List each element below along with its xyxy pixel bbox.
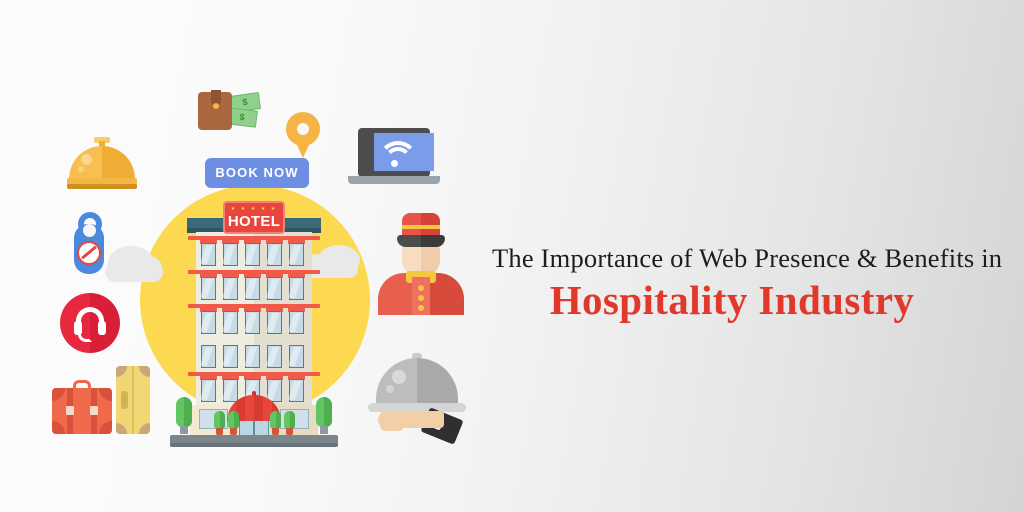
hotel-window	[201, 277, 216, 300]
hotel-window	[267, 311, 282, 334]
tree-crown	[316, 397, 332, 427]
headline-line-1: The Importance of Web Presence & Benefit…	[492, 243, 972, 273]
laptop-wifi-icon	[348, 128, 440, 190]
suitcase-buckle	[66, 406, 74, 415]
wifi-icon	[384, 147, 412, 175]
hotel-window	[223, 379, 238, 402]
hotel-window	[267, 277, 282, 300]
bellhop-concierge-icon	[378, 211, 464, 313]
hotel-floor-row	[196, 270, 312, 304]
map-pin-icon	[286, 112, 320, 160]
orange-suitcase	[52, 388, 112, 434]
plant-pot	[216, 428, 223, 435]
hotel-window	[201, 379, 216, 402]
customer-support-headset-icon	[60, 293, 120, 353]
hotel-window	[223, 311, 238, 334]
cloche-dome	[376, 358, 458, 406]
suitcase-corner	[116, 423, 127, 434]
suitcase-handle	[73, 380, 91, 390]
luggage-suitcases-icon	[52, 366, 152, 450]
book-now-label: BOOK NOW	[205, 158, 309, 188]
hotel-window	[289, 311, 304, 334]
map-pin-hole	[297, 123, 309, 135]
suitcase-corner	[116, 366, 127, 377]
book-now-button[interactable]: BOOK NOW	[205, 158, 309, 188]
wifi-icon-dot	[391, 160, 398, 167]
tree-planter	[180, 426, 188, 434]
plant-crown	[270, 411, 281, 429]
hotel-window	[245, 277, 260, 300]
suitcase-buckle	[90, 406, 98, 415]
do-not-disturb-door-hanger-icon	[70, 210, 118, 276]
bell-dome	[69, 146, 135, 180]
door-hanger-hole	[83, 224, 96, 237]
suitcase-corner	[52, 388, 65, 401]
bell-highlight	[81, 154, 92, 165]
cloche-highlight	[392, 370, 406, 384]
wallet-money-icon: $ $	[196, 88, 264, 136]
bell-base-shadow	[67, 184, 137, 189]
hotel-window	[245, 243, 260, 266]
hotel-sign: ★ ★ ★ ★ ★ HOTEL	[223, 201, 285, 234]
plant-crown	[214, 411, 225, 429]
service-bell-icon	[67, 134, 137, 190]
hospitality-illustration: ★ ★ ★ ★ ★ HOTEL BOOK NOW $ $	[0, 0, 500, 512]
wallet-stud	[213, 103, 219, 109]
plant-crown	[284, 411, 295, 429]
suitcase-seam	[132, 366, 134, 434]
cloche-highlight	[386, 385, 394, 393]
hotel-window	[289, 243, 304, 266]
hotel-window	[245, 345, 260, 368]
plant-pot	[286, 428, 293, 435]
hotel-window	[223, 277, 238, 300]
suitcase-corner	[139, 366, 150, 377]
hotel-sign-label: HOTEL	[225, 213, 283, 230]
waiter-thumb	[380, 420, 404, 431]
plant-pot	[230, 428, 237, 435]
hotel-window	[223, 345, 238, 368]
bellhop-button	[418, 285, 424, 291]
hotel-sidewalk-shadow	[170, 443, 338, 447]
hotel-star-rating: ★ ★ ★ ★ ★	[225, 206, 283, 212]
hotel-window	[289, 277, 304, 300]
suitcase-grip	[121, 391, 128, 409]
wallet-icon	[198, 92, 232, 130]
suitcase-corner	[99, 421, 112, 434]
tree-planter	[320, 426, 328, 434]
suitcase-corner	[139, 423, 150, 434]
bell-highlight	[78, 166, 84, 172]
plant-pot	[272, 428, 279, 435]
hotel-floor-row	[196, 338, 312, 372]
hospitality-web-presence-banner: ★ ★ ★ ★ ★ HOTEL BOOK NOW $ $	[0, 0, 1024, 512]
suitcase-corner	[99, 388, 112, 401]
yellow-suitcase	[116, 366, 150, 434]
bellhop-cap-stripe	[402, 225, 440, 229]
headline-line-2: Hospitality Industry	[492, 273, 972, 327]
laptop-base	[348, 176, 440, 184]
hotel-window	[223, 243, 238, 266]
room-service-tray-icon	[362, 358, 470, 452]
headline-block: The Importance of Web Presence & Benefit…	[492, 243, 972, 328]
hotel-window	[267, 243, 282, 266]
bellhop-button	[418, 295, 424, 301]
hotel-window	[201, 243, 216, 266]
hotel-building: ★ ★ ★ ★ ★ HOTEL	[170, 199, 338, 449]
hotel-floor-row	[196, 236, 312, 270]
suitcase-corner	[52, 421, 65, 434]
hotel-window	[289, 345, 304, 368]
hotel-floor-row	[196, 304, 312, 338]
hotel-window	[245, 311, 260, 334]
hotel-window	[201, 345, 216, 368]
hotel-window	[289, 379, 304, 402]
headset-earcup	[98, 321, 106, 335]
hotel-window	[201, 311, 216, 334]
bellhop-cap-brim	[397, 235, 445, 247]
hotel-window	[267, 345, 282, 368]
bellhop-button	[418, 305, 424, 311]
tree-crown	[176, 397, 192, 427]
plant-crown	[228, 411, 239, 429]
